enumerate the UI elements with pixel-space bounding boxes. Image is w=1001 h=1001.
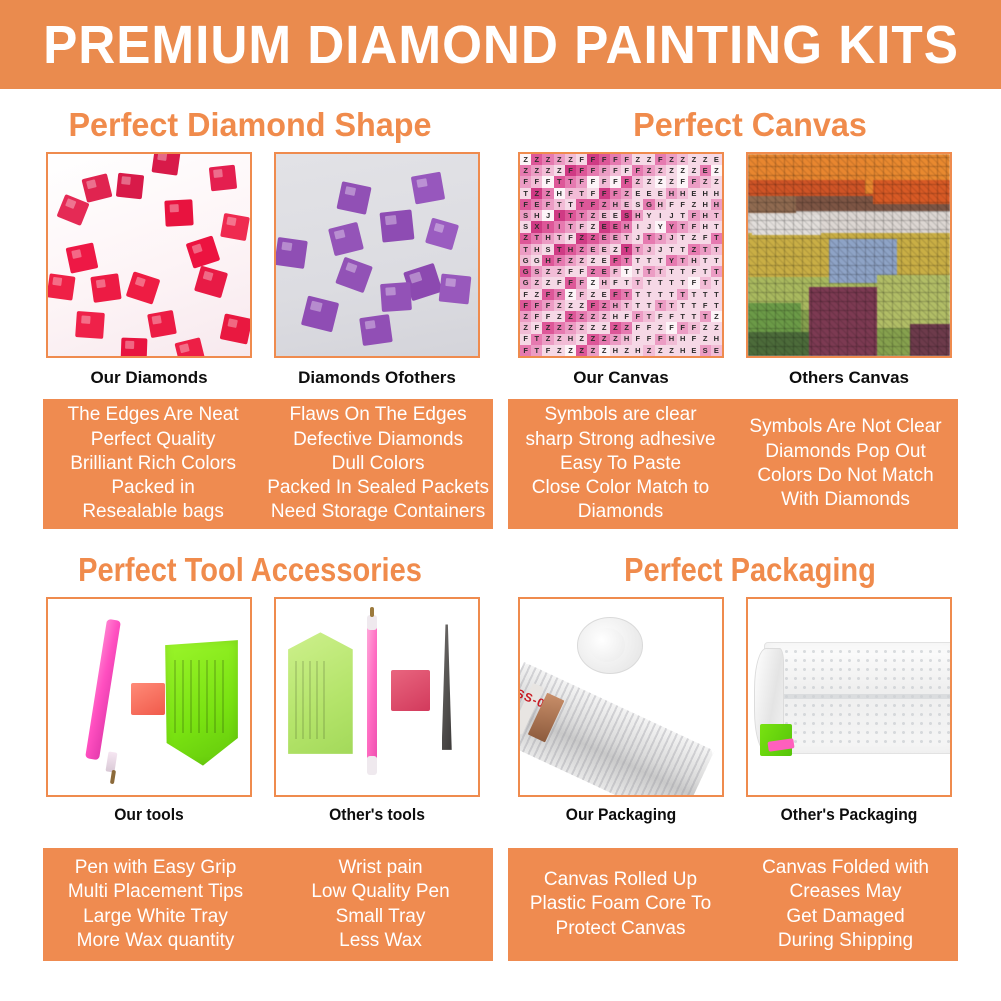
symbol-cell: H (531, 244, 542, 255)
text-line: Large White Tray (83, 905, 228, 929)
symbol-cell: T (576, 199, 587, 210)
header-banner: PREMIUM DIAMOND PAINTING KITS (0, 0, 1001, 89)
symbol-cell: F (666, 311, 677, 322)
symbol-cell: Z (587, 289, 598, 300)
symbol-cell: Z (587, 210, 598, 221)
symbol-cell: Y (666, 255, 677, 266)
symbol-cell: Z (599, 199, 610, 210)
symbol-cell: H (621, 221, 632, 232)
symbol-cell: Z (587, 266, 598, 277)
symbol-cell: H (700, 210, 711, 221)
symbol-cell: F (531, 176, 542, 187)
symbol-cell: T (666, 289, 677, 300)
symbol-cell: F (599, 154, 610, 165)
canvas-symbol-grid: ZZZZZFFFFFZZFZZZZEZZZZFFFFFFFZZZZZEZFFFT… (520, 154, 722, 356)
symbol-cell: F (599, 188, 610, 199)
symbol-cell: Z (655, 165, 666, 176)
symbol-cell: Y (643, 210, 654, 221)
symbol-cell: F (565, 165, 576, 176)
symbol-cell: T (711, 289, 722, 300)
symbol-cell: F (621, 154, 632, 165)
symbol-cell: H (565, 334, 576, 345)
text-line: Packed In Sealed Packets (267, 476, 489, 500)
symbol-cell: F (576, 221, 587, 232)
symbol-cell: E (655, 188, 666, 199)
symbol-cell: H (610, 345, 621, 356)
symbol-cell: E (599, 289, 610, 300)
symbol-cell: F (688, 334, 699, 345)
symbol-cell: F (531, 322, 542, 333)
symbol-cell: Z (565, 311, 576, 322)
section-title-packaging: Perfect Packaging (548, 553, 953, 586)
symbol-cell: F (554, 255, 565, 266)
symbol-cell: H (711, 199, 722, 210)
symbol-cell: Z (531, 165, 542, 176)
symbol-cell: T (576, 210, 587, 221)
symbol-cell: F (520, 176, 531, 187)
symbol-cell: E (700, 165, 711, 176)
symbol-cell: Z (542, 322, 553, 333)
symbol-cell: T (688, 311, 699, 322)
symbol-cell: F (587, 188, 598, 199)
symbol-cell: T (711, 244, 722, 255)
bubble-mailer (764, 642, 952, 754)
symbol-cell: T (643, 233, 654, 244)
symbol-cell: Z (576, 244, 587, 255)
symbol-cell: T (677, 289, 688, 300)
symbol-cell: T (643, 266, 654, 277)
symbol-cell: Z (587, 345, 598, 356)
symbol-cell: Z (531, 188, 542, 199)
symbol-cell: F (655, 311, 666, 322)
symbol-cell: T (643, 289, 654, 300)
text-line: Multi Placement Tips (68, 880, 243, 904)
text-col-others-canvas: Symbols Are Not Clear Diamonds Pop Out C… (733, 399, 958, 529)
text-line: More Wax quantity (77, 929, 235, 953)
tweezers (442, 624, 452, 749)
symbol-cell: Z (587, 221, 598, 232)
wax-square (391, 670, 429, 711)
symbol-cell: Z (576, 345, 587, 356)
symbol-cell: S (700, 345, 711, 356)
symbol-cell: E (621, 199, 632, 210)
symbol-cell: T (688, 289, 699, 300)
symbol-cell: T (677, 266, 688, 277)
symbol-cell: T (621, 277, 632, 288)
symbol-cell: T (700, 255, 711, 266)
text-line: Diamonds Pop Out (765, 440, 926, 464)
symbol-cell: Z (565, 345, 576, 356)
text-line: Flaws On The Edges (290, 403, 467, 427)
image-others-canvas (746, 152, 952, 358)
symbol-cell: Z (565, 300, 576, 311)
symbol-cell: Z (599, 311, 610, 322)
text-line: Creases May (790, 880, 902, 904)
symbol-cell: Z (688, 154, 699, 165)
text-line: Packed in (111, 476, 194, 500)
symbol-cell: Z (576, 300, 587, 311)
our-diamonds-scatter (48, 154, 250, 356)
symbol-cell: Z (587, 277, 598, 288)
symbol-cell: F (677, 322, 688, 333)
others-diamonds-scatter (276, 154, 478, 356)
symbol-cell: F (621, 176, 632, 187)
symbol-cell: G (520, 277, 531, 288)
symbol-cell: Z (576, 334, 587, 345)
symbol-cell: Z (666, 345, 677, 356)
our-packaging-photo: SS-011 (520, 599, 722, 795)
symbol-cell: Z (576, 233, 587, 244)
symbol-cell: J (666, 210, 677, 221)
symbol-cell: H (700, 199, 711, 210)
symbol-cell: S (621, 210, 632, 221)
symbol-cell: E (599, 255, 610, 266)
symbol-cell: J (655, 233, 666, 244)
symbol-cell: H (599, 277, 610, 288)
symbol-cell: J (666, 233, 677, 244)
symbol-cell: F (542, 311, 553, 322)
symbol-cell: T (655, 300, 666, 311)
symbol-cell: Z (655, 322, 666, 333)
symbol-cell: J (643, 244, 654, 255)
symbol-cell: Z (666, 165, 677, 176)
caption-others-tools: Other's tools (282, 806, 472, 823)
symbol-cell: H (666, 334, 677, 345)
symbol-cell: H (711, 334, 722, 345)
symbol-cell: F (700, 233, 711, 244)
symbol-cell: Z (643, 176, 654, 187)
symbol-cell: H (666, 188, 677, 199)
symbol-cell: T (677, 210, 688, 221)
text-line: Symbols are clear (544, 403, 696, 427)
symbol-cell: Z (531, 277, 542, 288)
symbol-cell: F (632, 165, 643, 176)
symbol-cell: T (531, 345, 542, 356)
symbol-cell: F (576, 176, 587, 187)
symbol-cell: Z (599, 300, 610, 311)
text-line: Protect Canvas (556, 917, 686, 941)
symbol-cell: Z (554, 311, 565, 322)
text-line: Less Wax (339, 929, 422, 953)
symbol-cell: T (554, 233, 565, 244)
symbol-cell: T (700, 277, 711, 288)
symbol-cell: F (542, 199, 553, 210)
symbol-cell: I (632, 221, 643, 232)
pink-pen (86, 618, 122, 760)
symbol-cell: J (655, 244, 666, 255)
symbol-cell: F (520, 289, 531, 300)
symbol-cell: T (711, 277, 722, 288)
section-title-tools: Perfect Tool Accessories (48, 553, 453, 586)
symbol-cell: F (677, 199, 688, 210)
symbol-cell: T (632, 300, 643, 311)
symbol-cell: F (688, 210, 699, 221)
symbol-cell: Z (666, 176, 677, 187)
symbol-cell: T (520, 188, 531, 199)
symbol-cell: T (621, 244, 632, 255)
symbol-cell: F (542, 176, 553, 187)
text-line: Low Quality Pen (311, 880, 449, 904)
symbol-cell: Z (711, 322, 722, 333)
symbol-cell: F (610, 289, 621, 300)
symbol-cell: E (610, 210, 621, 221)
symbol-cell: T (643, 277, 654, 288)
symbol-cell: Z (643, 345, 654, 356)
our-tools-photo (48, 599, 250, 795)
symbol-cell: Z (587, 233, 598, 244)
symbol-cell: H (621, 334, 632, 345)
symbol-cell: E (711, 154, 722, 165)
symbol-cell: Z (554, 154, 565, 165)
others-canvas-blur (748, 154, 950, 356)
symbol-cell: T (565, 176, 576, 187)
symbol-cell: T (655, 266, 666, 277)
text-col-our-diamonds: The Edges Are Neat Perfect Quality Brill… (43, 399, 263, 529)
symbol-cell: H (677, 345, 688, 356)
symbol-cell: F (587, 154, 598, 165)
symbol-cell: Z (565, 289, 576, 300)
symbol-cell: G (531, 255, 542, 266)
symbol-cell: T (700, 244, 711, 255)
text-line: Resealable bags (82, 500, 224, 524)
text-line: Small Tray (336, 905, 426, 929)
canvas-tube: SS-011 (518, 662, 714, 797)
text-block-diamond-shape: The Edges Are Neat Perfect Quality Brill… (43, 399, 493, 529)
symbol-cell: F (576, 289, 587, 300)
symbol-cell: F (565, 277, 576, 288)
symbol-cell: H (655, 199, 666, 210)
symbol-cell: T (621, 289, 632, 300)
caption-our-canvas: Our Canvas (518, 369, 724, 386)
symbol-cell: I (542, 221, 553, 232)
symbol-cell: E (531, 199, 542, 210)
caption-our-packaging: Our Packaging (526, 806, 716, 823)
symbol-cell: F (576, 277, 587, 288)
symbol-cell: Z (554, 165, 565, 176)
symbol-cell: Z (599, 345, 610, 356)
symbol-cell: E (632, 188, 643, 199)
symbol-cell: I (554, 210, 565, 221)
image-our-packaging: SS-011 (518, 597, 724, 797)
symbol-cell: F (643, 334, 654, 345)
symbol-cell: Z (632, 154, 643, 165)
symbol-cell: E (610, 233, 621, 244)
symbol-cell: F (542, 289, 553, 300)
symbol-cell: Z (655, 345, 666, 356)
symbol-cell: Z (542, 154, 553, 165)
light-green-tray (288, 632, 353, 754)
text-line: The Edges Are Neat (68, 403, 239, 427)
text-col-our-canvas: Symbols are clear sharp Strong adhesive … (508, 399, 733, 529)
symbol-cell: F (632, 311, 643, 322)
symbol-cell: T (711, 255, 722, 266)
caption-others-diamonds: Diamonds Ofothers (274, 369, 480, 386)
text-line: Diamonds (578, 500, 664, 524)
symbol-cell: Z (531, 289, 542, 300)
symbol-cell: F (587, 300, 598, 311)
symbol-cell: F (688, 176, 699, 187)
symbol-cell: F (554, 289, 565, 300)
text-line: Perfect Quality (91, 428, 216, 452)
symbol-cell: E (599, 244, 610, 255)
pink-pen (367, 626, 377, 759)
symbol-cell: F (587, 199, 598, 210)
symbol-cell: Z (643, 154, 654, 165)
image-others-diamonds (274, 152, 480, 358)
symbol-cell: T (677, 277, 688, 288)
symbol-cell: H (610, 199, 621, 210)
symbol-cell: Z (621, 188, 632, 199)
symbol-cell: S (632, 199, 643, 210)
symbol-cell: F (632, 322, 643, 333)
symbol-cell: Y (666, 221, 677, 232)
text-col-others-tools: Wrist pain Low Quality Pen Small Tray Le… (268, 848, 493, 961)
symbol-cell: Z (711, 311, 722, 322)
symbol-cell: Z (610, 244, 621, 255)
symbol-cell: F (565, 233, 576, 244)
symbol-cell: H (542, 255, 553, 266)
symbol-cell: Z (554, 322, 565, 333)
symbol-cell: F (565, 266, 576, 277)
symbol-cell: Z (542, 277, 553, 288)
symbol-cell: Z (643, 165, 654, 176)
symbol-cell: J (542, 210, 553, 221)
text-line: During Shipping (778, 929, 913, 953)
symbol-cell: T (700, 266, 711, 277)
symbol-cell: F (610, 165, 621, 176)
symbol-cell: F (587, 165, 598, 176)
symbol-cell: T (520, 244, 531, 255)
symbol-cell: F (520, 300, 531, 311)
symbol-cell: Z (700, 176, 711, 187)
symbol-cell: T (621, 255, 632, 266)
symbol-cell: T (666, 266, 677, 277)
text-line: Easy To Paste (560, 452, 681, 476)
symbol-cell: T (643, 311, 654, 322)
comparison-infographic: PREMIUM DIAMOND PAINTING KITS Perfect Di… (0, 0, 1001, 1001)
symbol-cell: F (531, 311, 542, 322)
symbol-cell: F (587, 176, 598, 187)
text-col-others-diamonds: Flaws On The Edges Defective Diamonds Du… (263, 399, 493, 529)
symbol-cell: F (688, 277, 699, 288)
symbol-cell: T (666, 244, 677, 255)
symbol-cell: F (666, 322, 677, 333)
symbol-cell: Z (655, 176, 666, 187)
text-col-our-tools: Pen with Easy Grip Multi Placement Tips … (43, 848, 268, 961)
symbol-cell: F (610, 277, 621, 288)
symbol-cell: Z (610, 322, 621, 333)
text-block-packaging: Canvas Rolled Up Plastic Foam Core To Pr… (508, 848, 958, 961)
symbol-cell: T (632, 277, 643, 288)
symbol-cell: H (610, 311, 621, 322)
symbol-cell: Z (542, 334, 553, 345)
image-others-packaging (746, 597, 952, 797)
symbol-cell: T (711, 300, 722, 311)
symbol-cell: F (599, 176, 610, 187)
caption-others-packaging: Other's Packaging (754, 806, 944, 823)
green-tray (165, 640, 238, 765)
others-packaging-photo (748, 599, 950, 795)
symbol-cell: F (576, 165, 587, 176)
symbol-cell: F (554, 277, 565, 288)
symbol-cell: T (554, 176, 565, 187)
symbol-cell: Z (531, 154, 542, 165)
symbol-cell: H (677, 188, 688, 199)
section-title-diamond-shape: Perfect Diamond Shape (25, 108, 476, 141)
symbol-cell: T (621, 300, 632, 311)
symbol-cell: E (599, 210, 610, 221)
symbol-cell: Z (587, 255, 598, 266)
symbol-cell: F (520, 345, 531, 356)
symbol-cell: T (621, 266, 632, 277)
symbol-cell: Z (688, 165, 699, 176)
symbol-cell: H (610, 300, 621, 311)
symbol-cell: T (621, 233, 632, 244)
text-line: Canvas Rolled Up (544, 868, 697, 892)
symbol-cell: F (542, 345, 553, 356)
symbol-cell: F (610, 154, 621, 165)
symbol-cell: Z (688, 244, 699, 255)
symbol-cell: Z (621, 322, 632, 333)
symbol-cell: H (632, 210, 643, 221)
symbol-cell: Z (520, 165, 531, 176)
symbol-cell: T (666, 277, 677, 288)
symbol-cell: H (565, 244, 576, 255)
symbol-cell: F (520, 334, 531, 345)
symbol-cell: E (599, 266, 610, 277)
image-our-tools (46, 597, 252, 797)
text-line: Symbols Are Not Clear (749, 415, 941, 439)
symbol-cell: H (700, 221, 711, 232)
symbol-cell: Z (554, 334, 565, 345)
symbol-cell: Z (666, 154, 677, 165)
symbol-cell: Z (711, 165, 722, 176)
text-col-others-packaging: Canvas Folded with Creases May Get Damag… (733, 848, 958, 961)
symbol-cell: F (531, 300, 542, 311)
image-our-diamonds (46, 152, 252, 358)
symbol-cell: T (677, 221, 688, 232)
symbol-cell: Z (542, 165, 553, 176)
symbol-cell: Z (587, 334, 598, 345)
symbol-cell: T (677, 255, 688, 266)
wax-square (131, 683, 165, 714)
symbol-cell: F (599, 165, 610, 176)
text-line: Canvas Folded with (762, 856, 929, 880)
symbol-cell: T (655, 289, 666, 300)
symbol-cell: G (643, 199, 654, 210)
symbol-cell: Z (565, 322, 576, 333)
symbol-cell: T (643, 300, 654, 311)
symbol-cell: F (576, 154, 587, 165)
symbol-cell: H (700, 188, 711, 199)
caption-our-tools: Our tools (54, 806, 244, 823)
symbol-cell: Z (520, 322, 531, 333)
text-line: Colors Do Not Match (757, 464, 933, 488)
symbol-cell: T (531, 233, 542, 244)
symbol-cell: F (677, 176, 688, 187)
symbol-cell: F (632, 334, 643, 345)
symbol-cell: E (711, 345, 722, 356)
symbol-cell: F (621, 165, 632, 176)
symbol-cell: E (610, 221, 621, 232)
image-our-canvas: ZZZZZFFFFFZZFZZZZEZZZZFFFFFFFZZZZZEZFFFT… (518, 152, 724, 358)
symbol-cell: E (599, 221, 610, 232)
symbol-cell: Z (520, 154, 531, 165)
symbol-cell: T (700, 311, 711, 322)
symbol-cell: Z (711, 176, 722, 187)
section-title-canvas: Perfect Canvas (525, 108, 976, 141)
text-line: Defective Diamonds (293, 428, 463, 452)
